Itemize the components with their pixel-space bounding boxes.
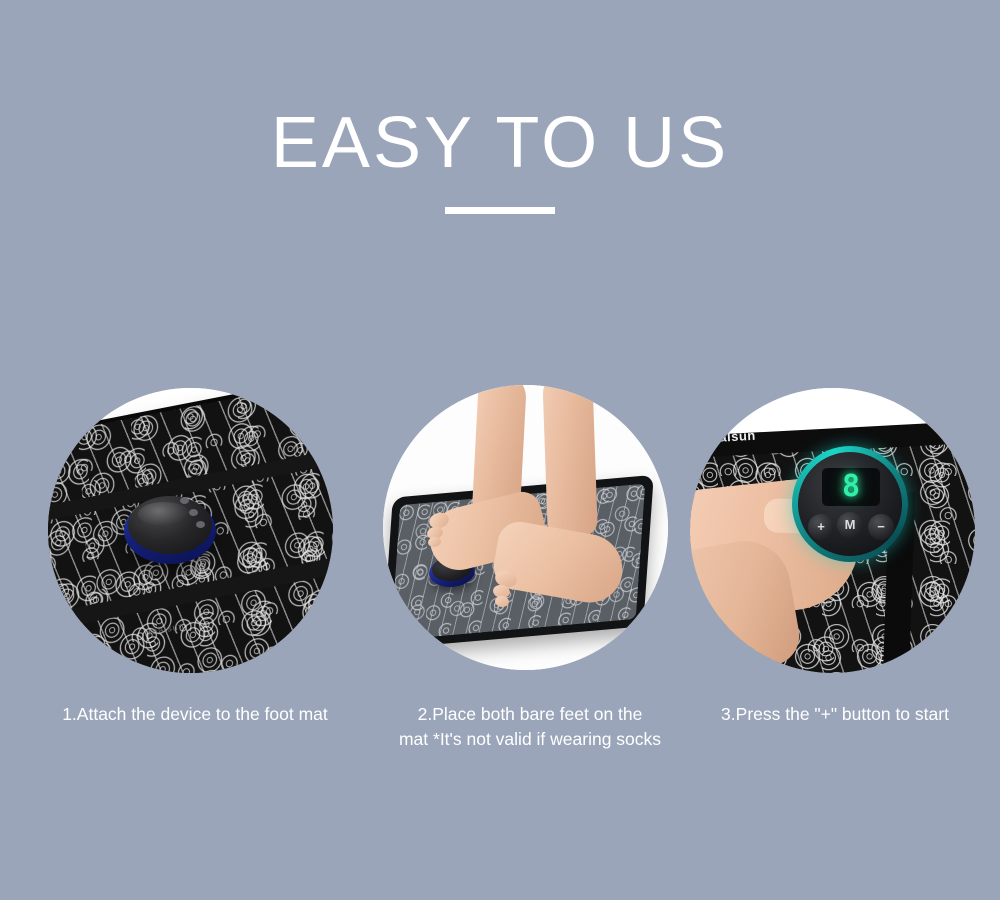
minus-button[interactable]: −: [868, 514, 894, 540]
step-2-scene: [383, 385, 668, 670]
step-3-caption: 3.Press the "+" button to start: [680, 702, 990, 727]
step-2-photo: [383, 385, 668, 670]
brand-logo-text: realsun: [706, 428, 756, 446]
display-value: 8: [842, 472, 860, 502]
step-1-caption: 1.Attach the device to the foot mat: [10, 702, 380, 727]
step-2-caption: 2.Place both bare feet on the mat *It's …: [370, 702, 690, 752]
controller-button-a: [180, 497, 189, 504]
digital-display: 8: [822, 468, 880, 506]
step-1-photo: realsun: [48, 388, 333, 673]
controller-button-c: [196, 521, 205, 528]
page-title: EASY TO US: [0, 100, 1000, 186]
mode-button[interactable]: M: [837, 512, 863, 538]
step-3-scene: realsun 8 + M −: [690, 388, 975, 673]
title-divider: [445, 207, 555, 214]
caption-line: 3.Press the "+" button to start: [680, 702, 990, 727]
step-3-photo: realsun 8 + M −: [690, 388, 975, 673]
controller-highlight: [138, 502, 190, 526]
controller-button-b: [189, 509, 198, 516]
infographic-page: EASY TO US realsun: [0, 0, 1000, 900]
right-leg: [542, 385, 598, 538]
step-1-scene: realsun: [48, 388, 333, 673]
caption-line: 2.Place both bare feet on the: [370, 702, 690, 727]
caption-line: 1.Attach the device to the foot mat: [10, 702, 380, 727]
caption-line: mat *It's not valid if wearing socks: [370, 727, 690, 752]
plus-button[interactable]: +: [808, 514, 834, 540]
